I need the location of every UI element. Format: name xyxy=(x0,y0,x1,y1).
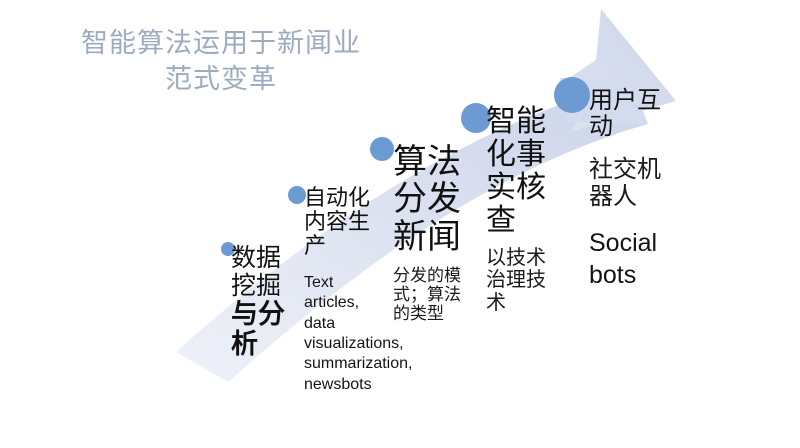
stage-2-heading-line-2: 内容生 xyxy=(304,210,380,234)
stage-4-heading-line-3: 实核 xyxy=(486,171,558,204)
stage-1-heading: 数据 挖掘 与分 析 xyxy=(231,245,293,359)
stage-4-heading-line-4: 查 xyxy=(486,204,558,237)
stage-1-heading-line-2: 挖掘 xyxy=(231,273,293,301)
stage-5-heading-line-1: 用户互 xyxy=(589,88,679,114)
stage-3-heading-line-1: 算法 xyxy=(393,144,465,181)
slide-title: 智能算法运用于新闻业 范式变革 xyxy=(46,26,396,97)
stage-2-heading-line-1: 自动化 xyxy=(304,186,380,210)
stage-5-subtitle: 社交机器人 xyxy=(589,157,679,211)
stage-4-heading-line-1: 智能 xyxy=(486,105,558,138)
stage-3-heading: 算法 分发 新闻 xyxy=(393,144,465,256)
stage-2-heading-line-3: 产 xyxy=(304,234,380,258)
stage-user-interaction: 用户互 动 社交机器人 Social bots xyxy=(589,88,679,291)
stage-3-subtitle: 分发的模式；算法的类型 xyxy=(393,266,461,323)
milestone-dot-3 xyxy=(370,137,394,161)
stage-1-heading-line-3: 与分 xyxy=(231,300,293,330)
stage-3-heading-line-2: 分发 xyxy=(393,181,465,218)
stage-automated-content: 自动化 内容生 产 Text articles, data visualizat… xyxy=(304,186,380,395)
stage-data-mining: 数据 挖掘 与分 析 xyxy=(231,245,293,359)
stage-5-heading-line-2: 动 xyxy=(589,114,679,140)
stage-3-heading-line-3: 新闻 xyxy=(393,219,465,256)
milestone-dot-5 xyxy=(554,77,590,113)
stage-algorithmic-distribution: 算法 分发 新闻 分发的模式；算法的类型 xyxy=(393,144,465,323)
stage-1-heading-line-4: 析 xyxy=(231,330,293,360)
stage-automated-fact-checking: 智能 化事 实核 查 以技术治理技术 xyxy=(486,105,558,314)
stage-5-heading: 用户互 动 xyxy=(589,88,679,141)
stage-4-heading-line-2: 化事 xyxy=(486,138,558,171)
stage-4-heading: 智能 化事 实核 查 xyxy=(486,105,558,237)
stage-5-english-description: Social bots xyxy=(589,227,679,291)
stage-2-heading: 自动化 内容生 产 xyxy=(304,186,380,259)
stage-2-english-description: Text articles, data visualizations, summ… xyxy=(304,273,378,396)
stage-1-heading-line-1: 数据 xyxy=(231,245,293,273)
slide-canvas: 智能算法运用于新闻业 范式变革 数据 挖掘 与分 析 自动化 内容生 产 Tex… xyxy=(0,0,800,448)
stage-4-subtitle: 以技术治理技术 xyxy=(486,247,552,314)
